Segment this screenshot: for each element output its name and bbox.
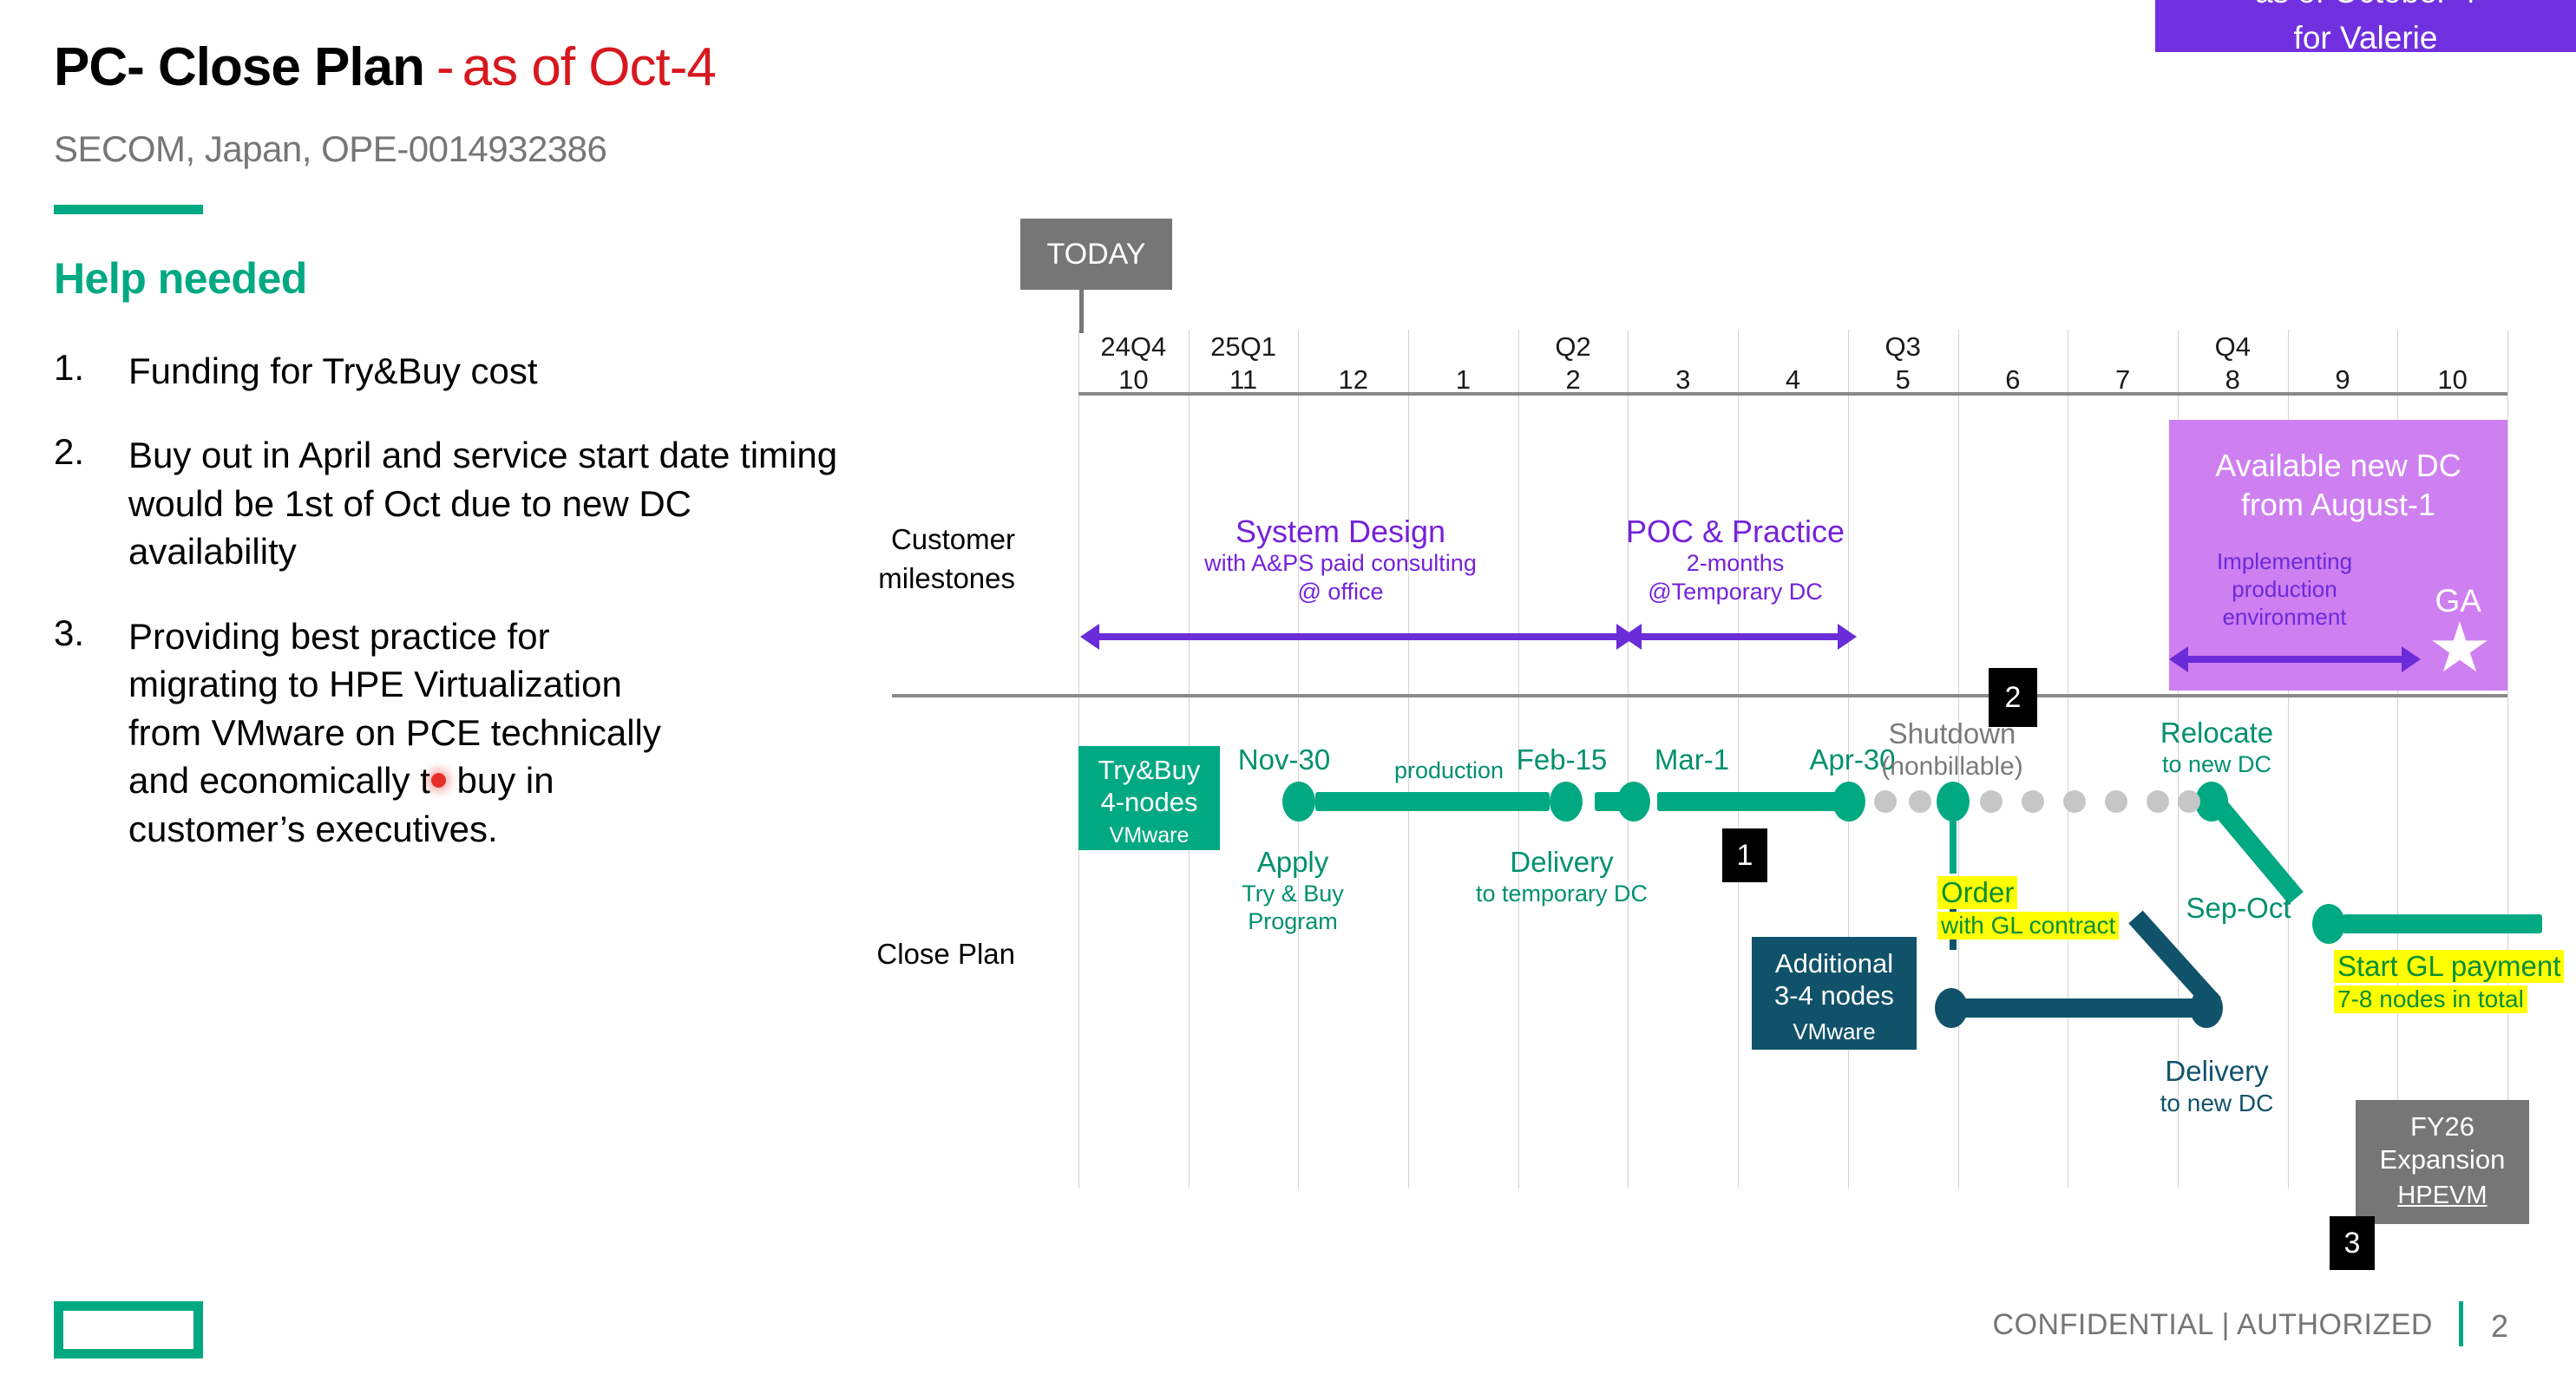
dc-title-l1: Available new DC	[2169, 446, 2507, 485]
grid-line	[2507, 330, 2508, 1188]
label-feb15: Feb-15	[1484, 743, 1640, 777]
month-label: 6	[1958, 364, 2068, 396]
label-nov30: Nov-30	[1206, 743, 1362, 777]
dc-title-l2: from August-1	[2169, 485, 2507, 524]
label-order: Order with GL contract	[1937, 876, 2119, 940]
fy26-l1: FY26Expansion	[2356, 1100, 2529, 1176]
system-design-arrow	[1098, 633, 1618, 640]
milestone-sub1: with A&PS paid consulting	[1158, 549, 1523, 578]
footer-page-number: 2	[2491, 1308, 2508, 1345]
plan-gray-dot	[1980, 790, 2002, 813]
label-relocate: Relocate to new DC	[2117, 717, 2317, 778]
shutdown-dropline	[1950, 822, 1957, 874]
label-apply-sub1: Try & Buy	[1215, 880, 1371, 907]
badge-1-label: 1	[1737, 839, 1753, 873]
footer-confidential: CONFIDENTIAL | AUTHORIZED	[1993, 1308, 2433, 1342]
label-order-title: Order	[1937, 876, 2017, 909]
badge-3: 3	[2330, 1216, 2375, 1270]
section-divider	[892, 694, 2507, 697]
month-label: 10	[2397, 364, 2507, 396]
month-label: 3	[1628, 364, 1738, 396]
label-mar1: Mar-1	[1622, 743, 1761, 777]
plan-gray-dot	[1874, 790, 1897, 813]
plan-gray-dot	[2147, 790, 2169, 813]
label-nov30-date: Nov-30	[1206, 743, 1362, 777]
month-label: 7	[2068, 364, 2178, 396]
dc-sub-l2: production	[2176, 576, 2393, 604]
month-label: 10	[1078, 364, 1189, 396]
milestone-poc-practice: POC & Practice 2-months @Temporary DC	[1575, 514, 1896, 606]
additional-l1: Additional3-4 nodes	[1752, 937, 1917, 1012]
label-startgl-sub: 7-8 nodes in total	[2334, 985, 2527, 1013]
plan-dot-mar1	[1617, 782, 1650, 822]
plan-bar-1	[1315, 792, 1550, 811]
plan-gray-dot	[2022, 790, 2044, 813]
milestone-title: POC & Practice	[1575, 514, 1896, 549]
poc-practice-arrow	[1640, 633, 1839, 640]
banner-line2: for Valerie	[2155, 15, 2576, 61]
today-label: TODAY	[1047, 238, 1146, 272]
plan-bar-sepoct	[2343, 914, 2542, 933]
label-apply-sub2: Program	[1215, 907, 1371, 935]
label-start-gl-payment: Start GL payment 7-8 nodes in total	[2334, 950, 2564, 1013]
label-mar1-date: Mar-1	[1622, 743, 1761, 777]
month-label: 2	[1518, 364, 1629, 396]
badge-2-label: 2	[2005, 681, 2022, 715]
plan-dot-apr30	[1832, 782, 1865, 822]
label-relocate-title: Relocate	[2117, 717, 2317, 750]
fy26-l2: HPEVM	[2356, 1176, 2529, 1210]
trybuy-l2: VMware	[1078, 818, 1220, 848]
row-label-closeplan: Close Plan	[746, 935, 1015, 974]
badge-1: 1	[1722, 828, 1767, 882]
dc-sub-l1: Implementing	[2176, 548, 2393, 576]
label-delivery-newdc: Delivery to new DC	[2117, 1054, 2317, 1117]
accent-rule	[54, 205, 203, 214]
list-item-text: Funding for Try&Buy cost	[128, 347, 861, 395]
list-item-number: 2.	[54, 431, 84, 473]
label-apply-title: Apply	[1215, 846, 1371, 880]
label-delivery-temp-sub: to temporary DC	[1445, 880, 1679, 907]
footer-separator	[2459, 1301, 2463, 1346]
title-asof: as of Oct-4	[462, 37, 716, 97]
slide: as of October-4 for Valerie PC- Close Pl…	[0, 0, 2576, 1388]
month-label: 5	[1848, 364, 1958, 396]
row-label-customer: Customer milestones	[746, 520, 1015, 598]
title-dash: -	[436, 37, 454, 97]
badge-2: 2	[1989, 668, 2037, 727]
plan-dot-nov30	[1282, 782, 1315, 822]
label-delivery-newdc-sub: to new DC	[2117, 1089, 2317, 1118]
ga-label: GA	[2435, 583, 2481, 619]
dc-sub: Implementing production environment	[2176, 548, 2393, 632]
plan-gray-dot	[1909, 790, 1931, 813]
asof-banner: as of October-4 for Valerie	[2155, 0, 2576, 52]
label-startgl-title: Start GL payment	[2334, 950, 2564, 983]
list-item-number: 3.	[54, 612, 84, 654]
list-item: 1. Funding for Try&Buy cost	[54, 347, 861, 395]
dc-sub-l3: environment	[2176, 604, 2393, 632]
quarter-label: Q3	[1848, 331, 1958, 363]
timeline-header: 1011121234567891024Q425Q1Q2Q3Q4	[1078, 330, 2507, 392]
list-item: 3. Providing best practice for migrating…	[54, 612, 861, 853]
label-shutdown-sub: (nonbillable)	[1839, 751, 2065, 782]
month-label: 8	[2178, 364, 2288, 396]
page-title: PC- Close Plan-as of Oct-4	[54, 36, 716, 98]
grid-line	[2068, 330, 2068, 1188]
plan-gray-dot	[2105, 790, 2127, 813]
plan-dot-sepoct	[2312, 904, 2345, 944]
quarter-label: 24Q4	[1078, 331, 1189, 363]
label-sepoct-date: Sep-Oct	[2160, 892, 2317, 926]
red-cursor-dot	[431, 773, 446, 788]
plan-bar-dark	[1963, 998, 2197, 1018]
label-delivery-temp-title: Delivery	[1445, 846, 1679, 880]
milestone-sub1: 2-months	[1575, 549, 1896, 578]
list-item-text: Providing best practice for migrating to…	[128, 612, 861, 853]
star-icon	[2431, 621, 2488, 677]
label-delivery-newdc-title: Delivery	[2117, 1054, 2317, 1089]
available-new-dc-block: Available new DC from August-1 Implement…	[2169, 420, 2507, 691]
month-label: 1	[1408, 364, 1518, 396]
quarter-label: 25Q1	[1189, 331, 1299, 363]
additional-l2: VMware	[1752, 1012, 1917, 1045]
month-label: 11	[1189, 364, 1299, 396]
today-flag: TODAY	[1020, 219, 1172, 290]
milestone-title: System Design	[1158, 514, 1523, 549]
plan-dot-shutdown	[1937, 782, 1970, 822]
badge-3-label: 3	[2344, 1227, 2361, 1260]
plan-gray-dot	[2178, 790, 2200, 813]
month-label: 4	[1738, 364, 1848, 396]
milestone-system-design: System Design with A&PS paid consulting …	[1158, 514, 1523, 606]
subtitle: SECOM, Japan, OPE-0014932386	[54, 128, 606, 170]
quarter-label: Q2	[1518, 331, 1629, 363]
label-feb15-date: Feb-15	[1484, 743, 1640, 777]
list-item-number: 1.	[54, 347, 84, 389]
additional-nodes-box: Additional3-4 nodes VMware	[1752, 937, 1917, 1050]
title-main: PC- Close Plan	[54, 37, 424, 97]
hpe-logo	[54, 1301, 203, 1359]
label-sepoct: Sep-Oct	[2160, 892, 2317, 926]
dc-implementation-arrow	[2186, 656, 2403, 663]
milestone-sub2: @ office	[1158, 578, 1523, 606]
label-delivery-temp: Delivery to temporary DC	[1445, 846, 1679, 907]
plan-bar-3	[1657, 792, 1841, 811]
today-stem	[1079, 290, 1084, 333]
list-item: 2. Buy out in April and service start da…	[54, 431, 861, 575]
row-label-customer-l1: Customer	[746, 520, 1015, 560]
section-heading: Help needed	[54, 253, 307, 304]
dc-title: Available new DC from August-1	[2169, 446, 2507, 524]
trybuy-box: Try&Buy4-nodes VMware	[1078, 746, 1220, 850]
help-needed-list: 1. Funding for Try&Buy cost 2. Buy out i…	[54, 347, 861, 889]
label-relocate-sub: to new DC	[2117, 750, 2317, 778]
month-label: 9	[2288, 364, 2398, 396]
row-label-closeplan-text: Close Plan	[876, 938, 1015, 970]
label-order-sub: with GL contract	[1937, 912, 2119, 940]
trybuy-l1: Try&Buy4-nodes	[1078, 746, 1220, 818]
plan-gray-dot	[2063, 790, 2086, 813]
row-label-customer-l2: milestones	[746, 560, 1015, 599]
month-label: 12	[1298, 364, 1408, 396]
banner-line1: as of October-4	[2155, 0, 2576, 15]
fy26-expansion-box: FY26Expansion HPEVM	[2356, 1100, 2529, 1224]
milestone-sub2: @Temporary DC	[1575, 578, 1896, 606]
label-apply: Apply Try & Buy Program	[1215, 846, 1371, 936]
quarter-label: Q4	[2178, 331, 2288, 363]
plan-dot-feb15	[1550, 782, 1583, 822]
